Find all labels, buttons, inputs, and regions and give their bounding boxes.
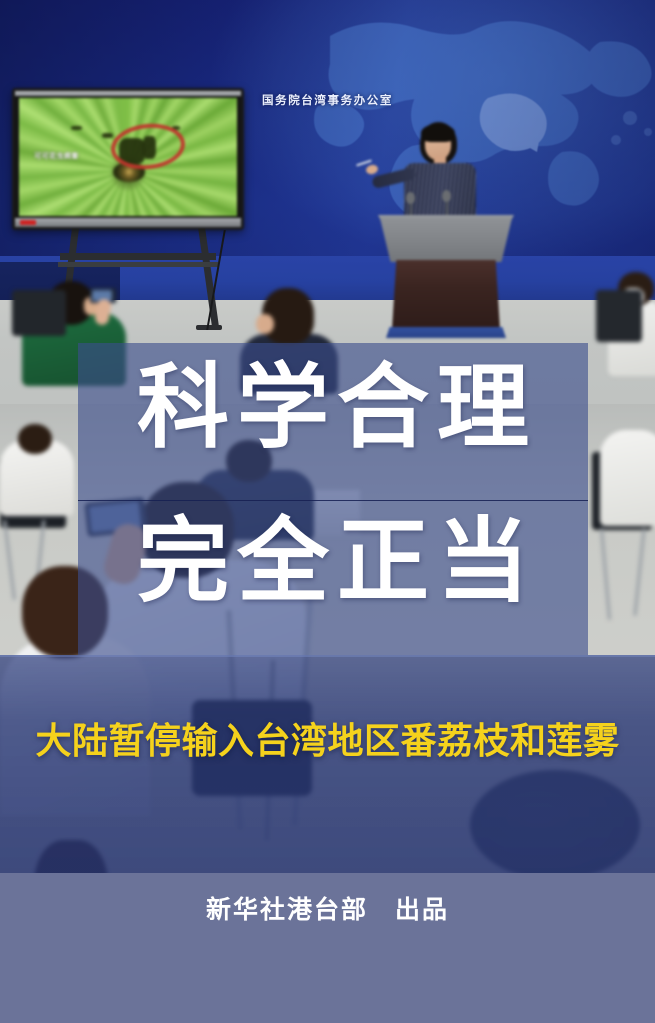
stand-crossbar-lower xyxy=(58,262,218,267)
podium-base xyxy=(386,327,506,338)
pest-spot xyxy=(102,133,113,138)
monitor-screen: 可可花虫病害 xyxy=(19,98,237,216)
audience-person-right2-body xyxy=(600,430,655,526)
subtitle-headline: 大陆暂停输入台湾地区番荔枝和莲雾 xyxy=(0,712,655,764)
microphone-head-left xyxy=(406,192,415,204)
wash-top-edge xyxy=(0,655,655,657)
stand-foot-right xyxy=(196,325,222,330)
poster-root: 国务院台湾事务办公室 xyxy=(0,0,655,1023)
monitor-top-bezel xyxy=(15,91,241,96)
spokesperson-fringe xyxy=(421,124,455,142)
monitor-brand-logo xyxy=(20,220,36,225)
presentation-monitor: 可可花虫病害 xyxy=(12,88,244,230)
audience-person-whitecoat-head xyxy=(18,424,52,454)
chair-back-upper-right xyxy=(596,290,642,342)
monitor-bottom-bezel xyxy=(15,218,241,227)
lower-blue-wash xyxy=(0,655,655,873)
audience-person-center-neck xyxy=(256,314,274,334)
headline-line-1: 科学合理 xyxy=(78,362,588,454)
chair-back-upper-left xyxy=(12,290,66,336)
pest-spot-2 xyxy=(71,126,82,130)
headline-divider-line xyxy=(78,500,588,501)
screen-caption: 可可花虫病害 xyxy=(34,151,78,161)
podium-desk xyxy=(380,218,512,262)
podium-column xyxy=(392,260,500,330)
microphone-head-right xyxy=(442,190,451,202)
stand-crossbar-top xyxy=(60,253,216,260)
footer-credit: 新华社港台部 出品 xyxy=(0,890,655,926)
headline-line-2: 完全正当 xyxy=(78,516,588,608)
